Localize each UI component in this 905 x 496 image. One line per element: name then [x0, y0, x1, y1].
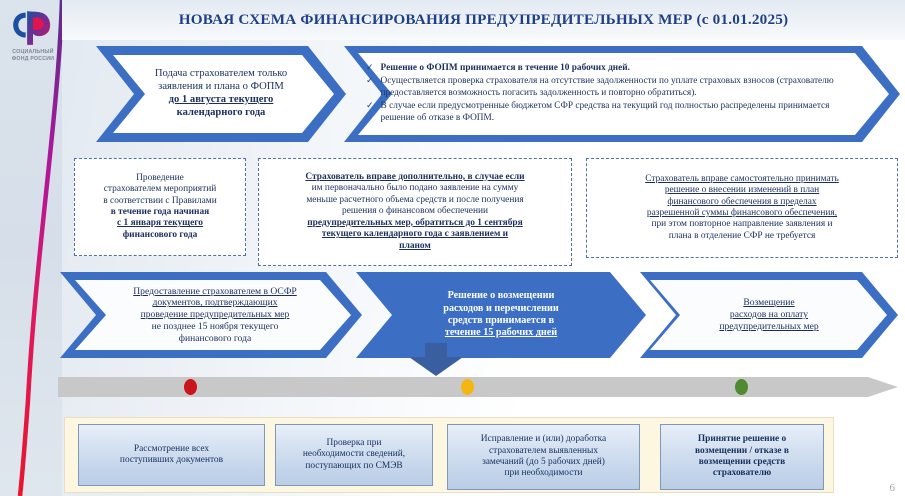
- chevron-application-submission: Подача страхователем только заявления и …: [96, 46, 346, 142]
- chev3a-line-5: финансового года: [179, 333, 251, 345]
- page-title: НОВАЯ СХЕМА ФИНАНСИРОВАНИЯ ПРЕДУПРЕДИТЕЛ…: [179, 11, 789, 29]
- chevron-reimbursement-decision: Решение о возмещении расходов и перечисл…: [356, 272, 646, 358]
- chev3c-line-2: расходов на оплату: [730, 309, 808, 321]
- box2b-line-3: меньше расчетного объема средств и после…: [265, 195, 565, 206]
- box2c-line-3: финансового обеспечения в пределах: [593, 197, 891, 208]
- stage-box-correction: Исправление и (или) доработка страховате…: [447, 424, 640, 490]
- box2c-line-2: решение о внесении изменений в план: [593, 185, 891, 196]
- chev3c-line-3: предупредительных мер: [719, 321, 818, 333]
- box-independent-plan-changes: Страхователь вправе самостоятельно прини…: [586, 158, 898, 258]
- timeline-bar: [58, 374, 898, 400]
- stage1-line-2: поступивших документов: [83, 455, 260, 466]
- box2c-line-1: Страхователь вправе самостоятельно прини…: [593, 174, 891, 185]
- stage3-line-2: страхователем выявленных: [452, 446, 635, 457]
- stage2-line-3: поступающих по СМЭВ: [280, 461, 428, 472]
- chev3b-line-1: Решение о возмещении: [448, 290, 555, 302]
- box2b-line-4: решения о финансовом обеспечении: [265, 206, 565, 217]
- stage4-line-3: возмещении средств: [665, 457, 819, 468]
- box2a-line-2: страхователем мероприятий: [81, 184, 239, 195]
- slide-root: СОЦИАЛЬНЫЙ ФОНД РОССИИ НОВАЯ СХЕМА ФИНАН…: [0, 0, 905, 496]
- stage4-line-4: страхователю: [665, 468, 819, 479]
- chev1-line-4: календарного года: [177, 107, 266, 120]
- social-fund-logo-icon: [11, 8, 55, 48]
- logo-text-line2: ФОНД РОССИИ: [6, 56, 60, 63]
- box2a-line-4: в течение года начиная: [81, 207, 239, 218]
- box-measures-execution: Проведение страхователем мероприятий в с…: [74, 158, 246, 256]
- chevron-expense-reimbursement: Возмещение расходов на оплату предупреди…: [640, 272, 898, 358]
- box2b-line-5: предупредительных мер, обратиться до 1 с…: [265, 218, 565, 229]
- chevron-decision-rules: ✓ Решение о ФОПМ принимается в течение 1…: [344, 46, 900, 142]
- box2a-line-5: с 1 января текущего: [117, 218, 203, 228]
- box-additional-application: Страхователь вправе дополнительно, в слу…: [258, 158, 572, 266]
- chev1-line-3: до 1 августа текущего: [169, 94, 274, 107]
- stage4-line-2: возмещении / отказе в: [665, 446, 819, 457]
- chev3b-line-3: средств принимается в: [448, 315, 554, 327]
- logo: СОЦИАЛЬНЫЙ ФОНД РОССИИ: [6, 6, 60, 78]
- stage-box-smev-check: Проверка при необходимости сведений, пос…: [275, 424, 433, 486]
- stage-box-final-decision: Принятие решение о возмещении / отказе в…: [660, 424, 824, 490]
- stage-box-review-documents: Рассмотрение всех поступивших документов: [78, 424, 265, 486]
- stage2-line-1: Проверка при: [280, 438, 428, 449]
- check-icon-3: ✓: [366, 101, 374, 111]
- check-icon-2: ✓: [366, 76, 374, 86]
- stage3-line-3: замечаний (до 5 рабочих дней): [452, 457, 635, 468]
- check-icon-1: ✓: [366, 63, 374, 73]
- chev3a-line-3: проведение предупредительных мер: [141, 309, 290, 321]
- box2b-line-1: Страхователь вправе дополнительно, в слу…: [265, 172, 565, 183]
- chev3b-line-4: течение 15 рабочих дней: [445, 327, 557, 339]
- chev3c-line-1: Возмещение: [743, 297, 794, 309]
- box2c-line-4: разрешенной суммы финансового обеспечени…: [593, 208, 891, 219]
- box2c-line-6: плана в отделение СФР не требуется: [593, 231, 891, 242]
- chev1-line-1: Подача страхователем только: [155, 68, 287, 81]
- stage3-line-1: Исправление и (или) доработка: [452, 434, 635, 445]
- bullet-2-text: Осуществляется проверка страхователя на …: [381, 76, 854, 100]
- box2b-line-6: текущего календарного года с заявлением …: [265, 229, 565, 240]
- box2b-line-2: им первоначально было подано заявление н…: [265, 183, 565, 194]
- chev3b-line-2: расходов и перечислении: [443, 303, 558, 315]
- timeline-dot-green: [735, 379, 748, 395]
- bullet-1-text: Решение о ФОПМ принимается в течение 10 …: [381, 63, 630, 75]
- bullet-3-text: В случае если предусмотренные бюджетом С…: [381, 101, 854, 125]
- box2b-line-7: планом: [265, 241, 565, 252]
- timeline-dot-yellow: [461, 379, 474, 395]
- logo-text-line1: СОЦИАЛЬНЫЙ: [6, 49, 60, 56]
- stage2-line-2: необходимости сведений,: [280, 449, 428, 460]
- box2a-line-6: финансового года: [81, 230, 239, 241]
- stage4-line-1: Принятие решение о: [665, 434, 819, 445]
- chevron-documents-submission: Предоставление страхователем в ОСФР доку…: [60, 272, 362, 358]
- page-number: 6: [890, 482, 896, 494]
- title-bar: НОВАЯ СХЕМА ФИНАНСИРОВАНИЯ ПРЕДУПРЕДИТЕЛ…: [62, 0, 905, 40]
- box2a-line-3: в соответствии с Правилами: [81, 196, 239, 207]
- stage1-line-1: Рассмотрение всех: [83, 444, 260, 455]
- chev3a-line-2: документов, подтверждающих: [152, 297, 277, 309]
- chev1-line-2: заявления и плана о ФОПМ: [158, 81, 284, 94]
- box2a-line-1: Проведение: [81, 173, 239, 184]
- chev3a-line-4: не позднее 15 ноября текущего: [152, 321, 279, 333]
- timeline-dot-red: [184, 379, 197, 395]
- box2c-line-5: при этом повторное направление заявления…: [593, 219, 891, 230]
- chev3a-line-1: Предоставление страхователем в ОСФР: [133, 286, 297, 298]
- stage3-line-4: при необходимости: [452, 468, 635, 479]
